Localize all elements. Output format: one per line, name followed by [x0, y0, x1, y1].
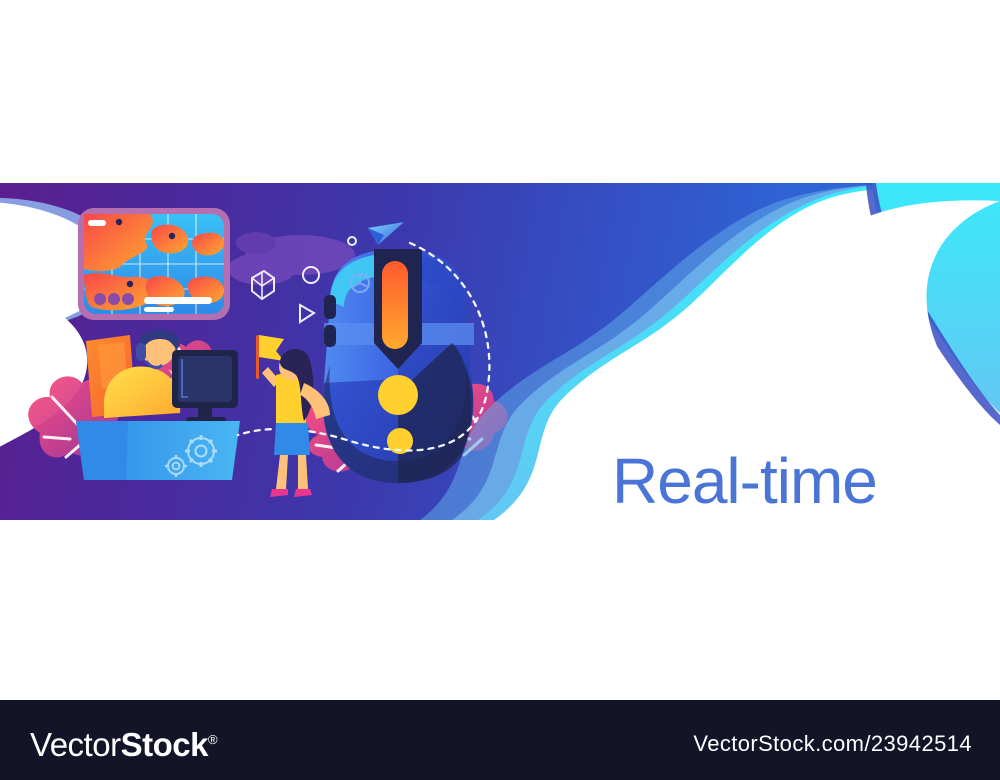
headline-line-2: strategy — [612, 514, 952, 520]
headline: Real-time strategy — [612, 448, 952, 520]
footer-url[interactable]: VectorStock.com/23942514 — [693, 731, 972, 757]
banner: Real-time strategy — [0, 183, 1000, 520]
logo-registered-mark: ® — [208, 732, 217, 747]
footer-bar: VectorStock® VectorStock.com/23942514 — [0, 700, 1000, 780]
vectorstock-logo[interactable]: VectorStock® — [30, 722, 217, 763]
headline-line-1: Real-time — [612, 448, 952, 514]
page-root: Real-time strategy VectorStock® VectorSt… — [0, 0, 1000, 780]
logo-text-thin: Vector — [30, 726, 121, 763]
logo-text-bold: Stock — [121, 726, 208, 763]
